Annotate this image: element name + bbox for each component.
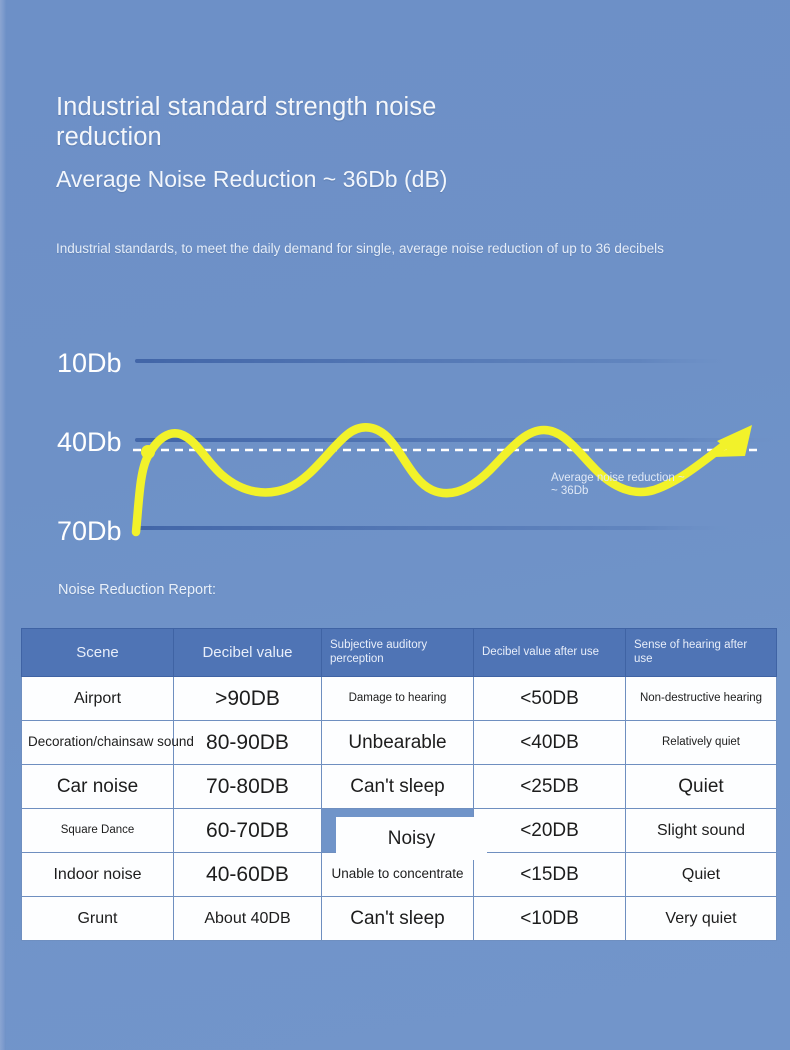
noise-reduction-report-table: Scene Decibel value Subjective auditory …: [21, 628, 776, 944]
cell-decibel-value: About 40DB: [174, 897, 322, 941]
cell-sense-after: Quiet: [626, 765, 777, 809]
y-tick-40db: 40Db: [57, 427, 122, 457]
cell-decibel-value: 60-70DB: [174, 809, 322, 853]
cell-scene: Grunt: [22, 897, 174, 941]
cell-decibel-value: >90DB: [174, 677, 322, 721]
cell-decibel-value: 80-90DB: [174, 721, 322, 765]
y-tick-10db: 10Db: [57, 348, 122, 378]
cell-decibel-after: <50DB: [474, 677, 626, 721]
page-description: Industrial standards, to meet the daily …: [56, 240, 721, 259]
column-header-sense-after-use: Sense of hearing after use: [626, 629, 777, 677]
cell-scene: Indoor noise: [22, 853, 174, 897]
table-row: Airport >90DB Damage to hearing <50DB No…: [22, 677, 777, 721]
cell-decibel-after: <25DB: [474, 765, 626, 809]
cell-decibel-after: <15DB: [474, 853, 626, 897]
chart-gridlines: [135, 359, 775, 530]
page-subtitle: Average Noise Reduction ~ 36Db (dB): [56, 166, 616, 194]
table-row: Car noise 70-80DB Can't sleep <25DB Quie…: [22, 765, 777, 809]
table-row: Decoration/chainsaw sound 80-90DB Unbear…: [22, 721, 777, 765]
column-header-scene: Scene: [22, 629, 174, 677]
column-header-decibel-after-use: Decibel value after use: [474, 629, 626, 677]
table-row: Square Dance 60-70DB Noisy <20DB Slight …: [22, 809, 777, 853]
column-header-subjective-perception: Subjective auditory perception: [322, 629, 474, 677]
cell-subjective: Can't sleep: [322, 765, 474, 809]
curve-start-marker: [141, 445, 155, 459]
cell-scene: Decoration/chainsaw sound: [22, 721, 174, 765]
cell-sense-after: Non-destructive hearing: [626, 677, 777, 721]
page-title: Industrial standard strength noise reduc…: [56, 92, 526, 152]
cell-scene: Car noise: [22, 765, 174, 809]
cell-decibel-after: <20DB: [474, 809, 626, 853]
cell-sense-after: Quiet: [626, 853, 777, 897]
y-tick-70db: 70Db: [57, 516, 122, 546]
cell-sense-after: Slight sound: [626, 809, 777, 853]
noise-reduction-chart: 10Db 40Db 70Db Average noise reduction ~…: [0, 330, 790, 565]
cell-decibel-after: <10DB: [474, 897, 626, 941]
column-header-decibel-value: Decibel value: [174, 629, 322, 677]
cell-subjective: Can't sleep: [322, 897, 474, 941]
cell-sense-after: Very quiet: [626, 897, 777, 941]
average-reduction-annotation-line1: Average noise reduction ~: [551, 472, 685, 484]
cell-decibel-after: <40DB: [474, 721, 626, 765]
product-infographic-page: Industrial standard strength noise reduc…: [0, 0, 790, 1050]
average-reduction-annotation-line2: ~ 36Db: [551, 485, 588, 497]
cell-subjective: Noisy: [336, 817, 488, 861]
table-header-row: Scene Decibel value Subjective auditory …: [22, 629, 777, 677]
cell-scene: Square Dance: [22, 809, 174, 853]
cell-sense-after: Relatively quiet: [626, 721, 777, 765]
cell-subjective: Unbearable: [322, 721, 474, 765]
cell-decibel-value: 70-80DB: [174, 765, 322, 809]
cell-decibel-value: 40-60DB: [174, 853, 322, 897]
cell-scene: Airport: [22, 677, 174, 721]
table-row: Grunt About 40DB Can't sleep <10DB Very …: [22, 897, 777, 941]
report-label: Noise Reduction Report:: [58, 581, 258, 599]
cell-subjective: Damage to hearing: [322, 677, 474, 721]
